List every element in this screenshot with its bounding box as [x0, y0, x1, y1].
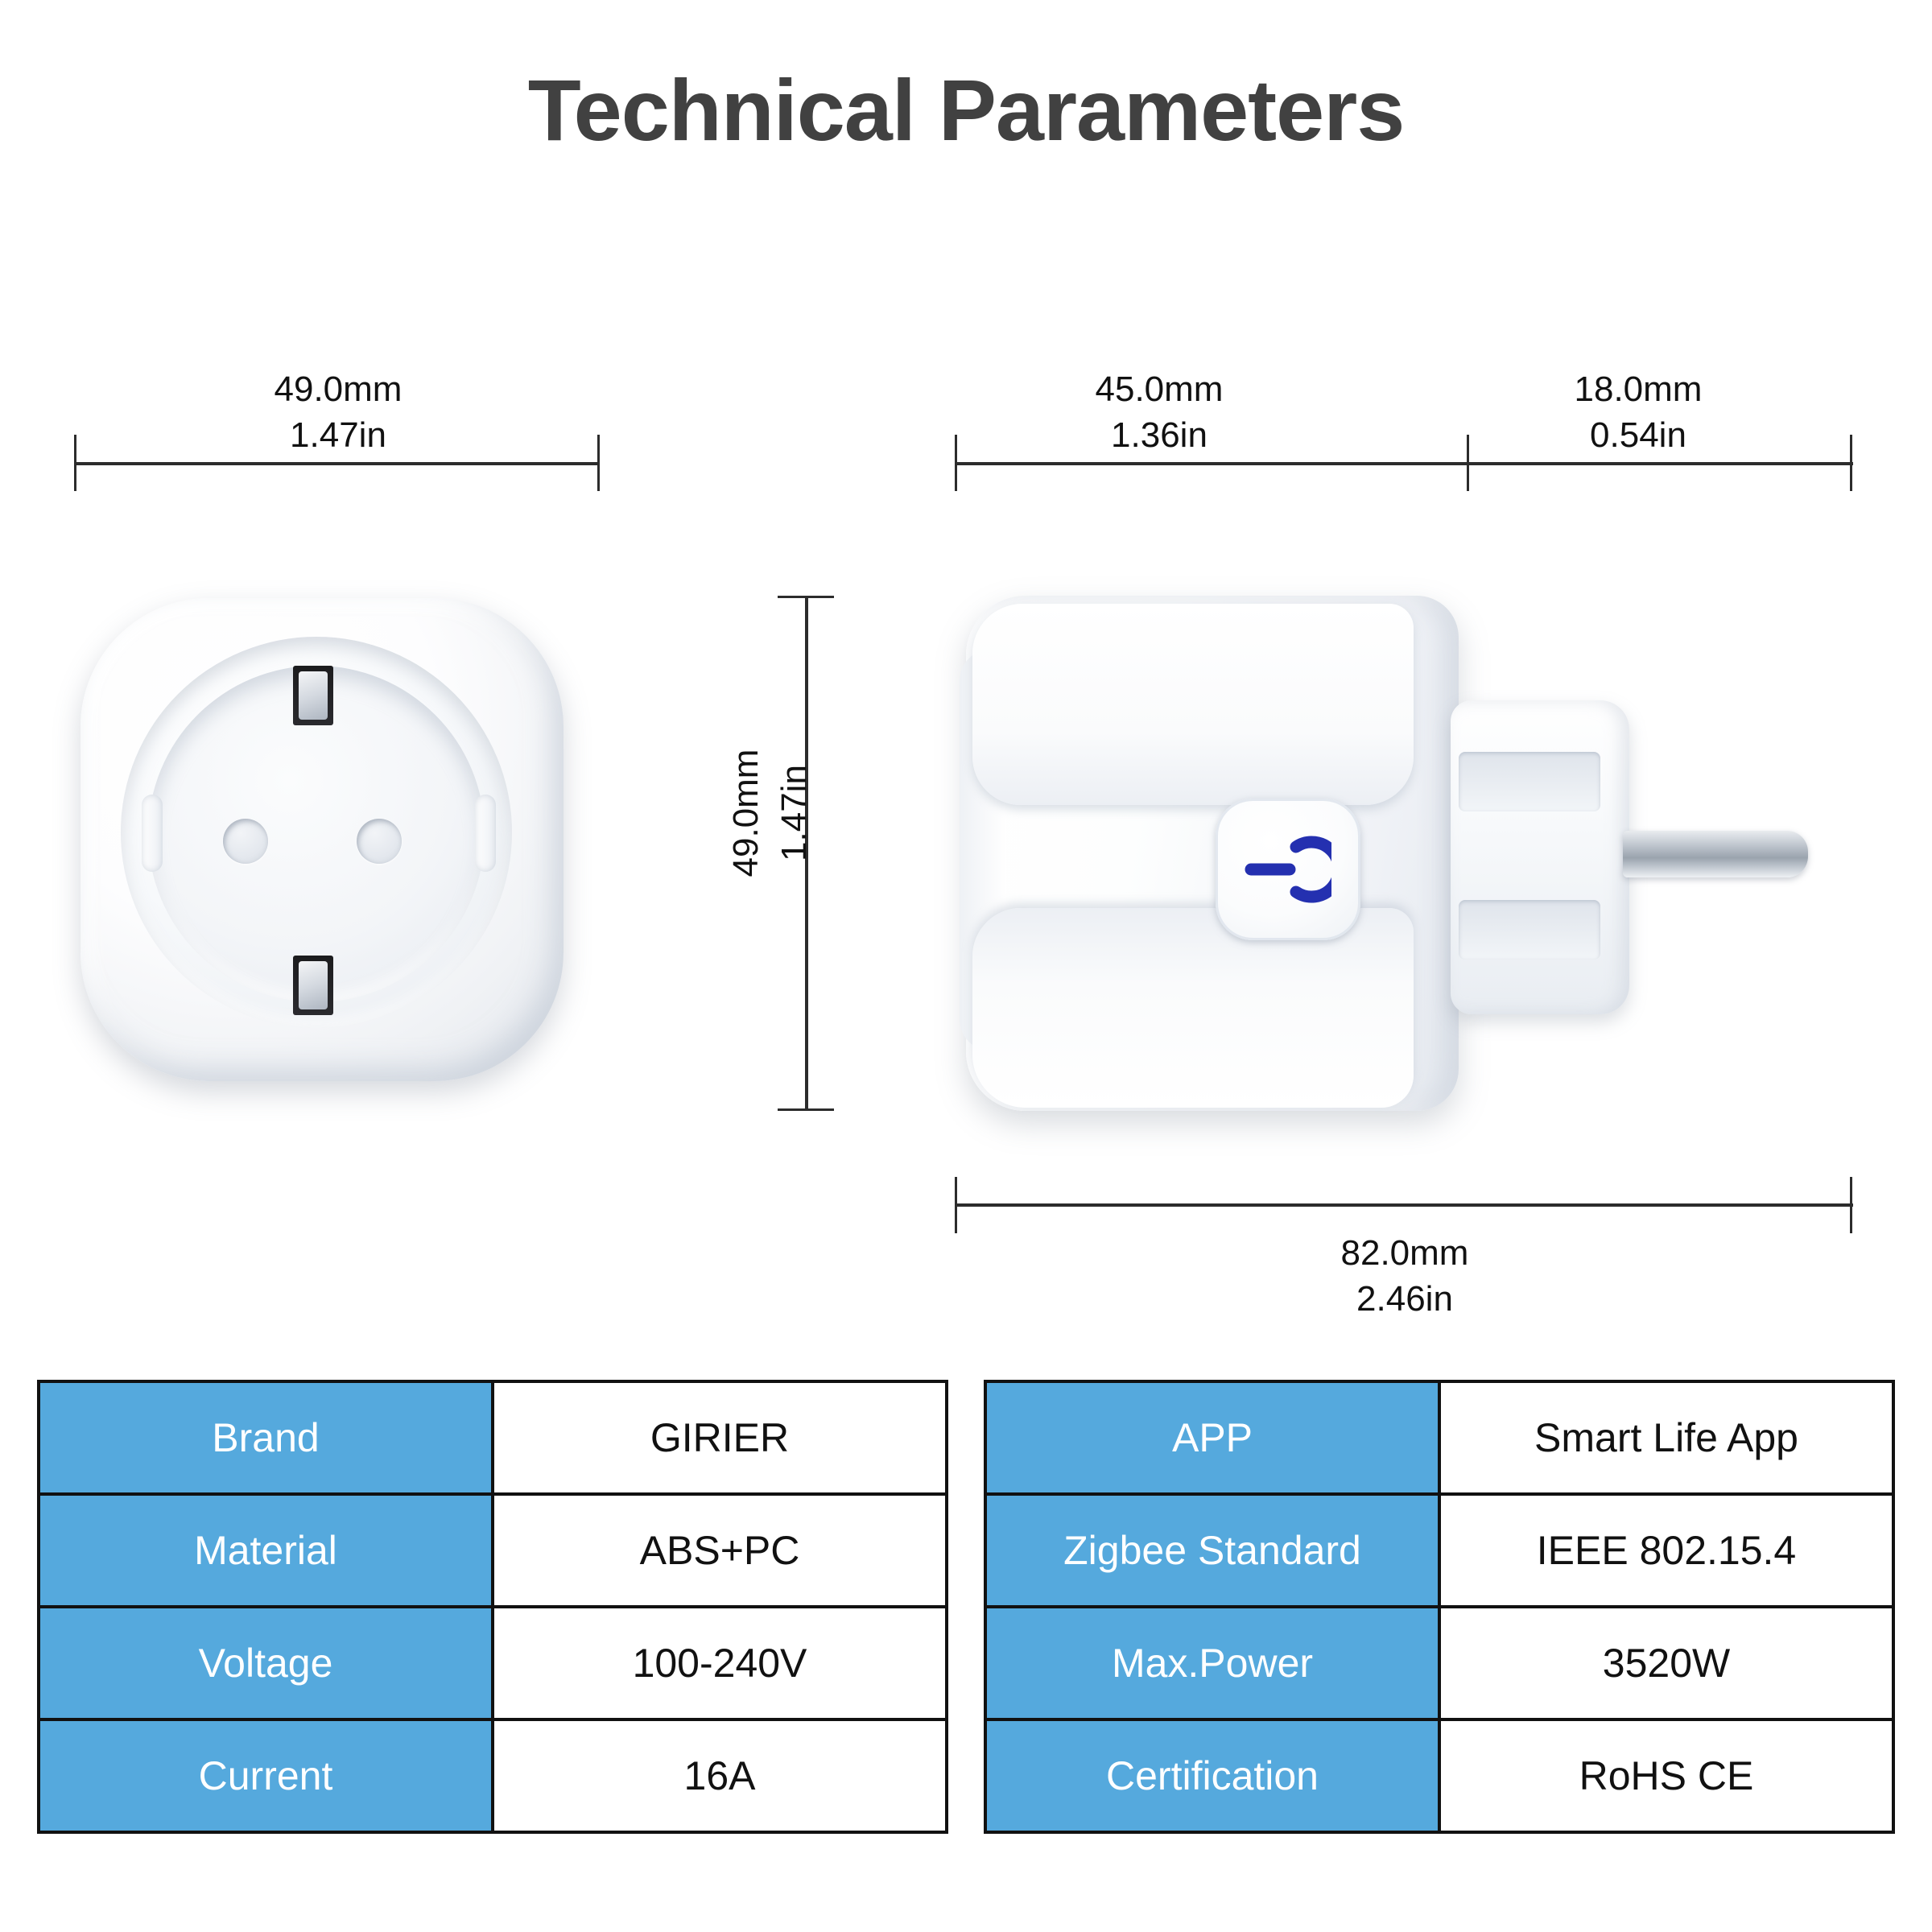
spec-value: 100-240V — [493, 1607, 947, 1719]
power-button[interactable] — [1216, 799, 1360, 940]
socket-side-notch-right — [475, 795, 496, 872]
side-total-width-mm: 82.0mm — [1232, 1230, 1578, 1276]
spec-key: Brand — [39, 1381, 493, 1494]
page-title: Technical Parameters — [0, 63, 1932, 159]
side-body-width-in: 1.36in — [990, 412, 1328, 458]
product-side-view — [958, 580, 1876, 1143]
spec-key: Max.Power — [985, 1607, 1439, 1719]
front-width-dimension-line — [74, 462, 600, 465]
front-width-tick-left — [74, 435, 76, 491]
front-height-dimension-label: 49.0mm — [723, 588, 769, 1038]
pin-hole-left — [223, 819, 268, 864]
spec-key: Zigbee Standard — [985, 1494, 1439, 1607]
spec-key: Certification — [985, 1719, 1439, 1832]
side-body-width-mm: 45.0mm — [990, 366, 1328, 412]
socket-side-notch-left — [142, 795, 163, 872]
side-plug-width-dimension-line — [1467, 462, 1853, 465]
plug-upper-shell — [972, 604, 1414, 805]
side-plug-width-dimension-label: 18.0mm 0.54in — [1505, 366, 1771, 458]
spec-value: 16A — [493, 1719, 947, 1832]
plug-metal-pin — [1623, 831, 1808, 877]
product-front-view — [74, 592, 573, 1091]
front-width-mm: 49.0mm — [169, 366, 507, 412]
spec-key: Voltage — [39, 1607, 493, 1719]
front-width-tick-right — [597, 435, 600, 491]
spec-table-right: APP Smart Life App Zigbee Standard IEEE … — [984, 1380, 1895, 1834]
side-total-width-tick-left — [955, 1177, 957, 1233]
technical-parameters-page: Technical Parameters 49.0mm 1.47in 45.0m… — [0, 0, 1932, 1932]
table-row: Current 16A — [39, 1719, 947, 1832]
barrel-groove-top — [1459, 752, 1600, 811]
front-height-mm: 49.0mm — [723, 588, 769, 1038]
side-plug-width-tick-left — [1467, 435, 1469, 491]
plug-lower-shell — [972, 908, 1414, 1108]
spec-value: IEEE 802.15.4 — [1439, 1494, 1893, 1607]
side-body-width-dimension-line — [955, 462, 1470, 465]
table-row: Material ABS+PC — [39, 1494, 947, 1607]
side-plug-width-in: 0.54in — [1505, 412, 1771, 458]
side-total-width-dimension-line — [955, 1203, 1853, 1207]
side-body-width-tick-left — [955, 435, 957, 491]
side-total-width-in: 2.46in — [1232, 1276, 1578, 1322]
spec-table-left: Brand GIRIER Material ABS+PC Voltage 100… — [37, 1380, 948, 1834]
table-row: Voltage 100-240V — [39, 1607, 947, 1719]
side-body-width-dimension-label: 45.0mm 1.36in — [990, 366, 1328, 458]
spec-value: GIRIER — [493, 1381, 947, 1494]
ground-clip-top-icon — [293, 666, 333, 725]
table-row: Zigbee Standard IEEE 802.15.4 — [985, 1494, 1893, 1607]
front-width-dimension-label: 49.0mm 1.47in — [169, 366, 507, 458]
spec-key: APP — [985, 1381, 1439, 1494]
table-row: Certification RoHS CE — [985, 1719, 1893, 1832]
barrel-groove-bottom — [1459, 900, 1600, 960]
spec-key: Current — [39, 1719, 493, 1832]
ground-clip-bottom-icon — [293, 956, 333, 1015]
power-icon — [1243, 829, 1331, 910]
front-height-dimension-label-in: 1.47in — [771, 588, 817, 1038]
spec-value: RoHS CE — [1439, 1719, 1893, 1832]
table-row: APP Smart Life App — [985, 1381, 1893, 1494]
side-plug-width-mm: 18.0mm — [1505, 366, 1771, 412]
spec-key: Material — [39, 1494, 493, 1607]
side-total-width-tick-right — [1850, 1177, 1852, 1233]
table-row: Brand GIRIER — [39, 1381, 947, 1494]
spec-value: 3520W — [1439, 1607, 1893, 1719]
pin-hole-right — [357, 819, 402, 864]
front-width-in: 1.47in — [169, 412, 507, 458]
spec-value: Smart Life App — [1439, 1381, 1893, 1494]
spec-value: ABS+PC — [493, 1494, 947, 1607]
side-total-width-dimension-label: 82.0mm 2.46in — [1232, 1230, 1578, 1322]
front-height-in: 1.47in — [771, 588, 817, 1038]
schuko-barrel — [1451, 700, 1629, 1014]
table-row: Max.Power 3520W — [985, 1607, 1893, 1719]
front-height-tick-bottom — [778, 1108, 834, 1111]
side-plug-width-tick-right — [1850, 435, 1852, 491]
